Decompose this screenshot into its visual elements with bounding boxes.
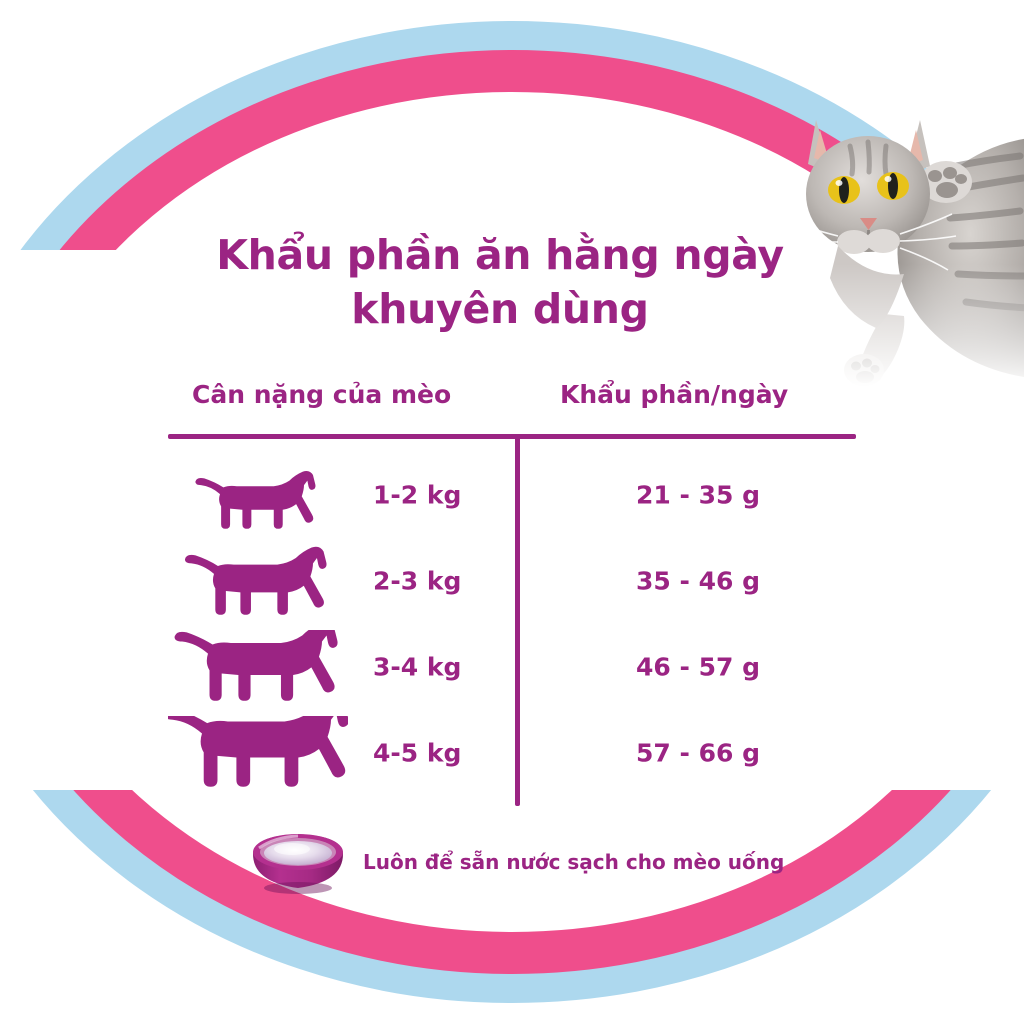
footer-note: Luôn để sẵn nước sạch cho mèo uống [245, 826, 865, 898]
column-header-portion: Khẩu phần/ngày [560, 380, 788, 409]
cat-silhouette-icon [168, 458, 348, 532]
row-weight-value: 2-3 kg [373, 567, 461, 596]
row-portion-value: 35 - 46 g [548, 567, 848, 596]
row-weight-value: 4-5 kg [373, 739, 461, 768]
row-portion-value: 21 - 35 g [548, 481, 848, 510]
row-weight-value: 3-4 kg [373, 653, 461, 682]
table-row: 1-2 kg 21 - 35 g [168, 452, 858, 538]
table-row: 3-4 kg 46 - 57 g [168, 624, 858, 710]
title-line-1: Khẩu phần ăn hằng ngày [150, 228, 850, 282]
water-bowl-icon [245, 828, 351, 896]
table-horizontal-rule [168, 434, 856, 439]
column-header-weight: Cân nặng của mèo [192, 380, 451, 409]
row-portion-value: 57 - 66 g [548, 739, 848, 768]
infographic-page: Khẩu phần ăn hằng ngày khuyên dùng Cân n… [0, 0, 1024, 1024]
cat-silhouette-icon [168, 716, 348, 790]
row-portion-value: 46 - 57 g [548, 653, 848, 682]
page-title: Khẩu phần ăn hằng ngày khuyên dùng [150, 228, 850, 336]
title-line-2: khuyên dùng [150, 282, 850, 336]
cat-silhouette-icon [168, 544, 348, 618]
footer-note-text: Luôn để sẵn nước sạch cho mèo uống [363, 850, 784, 874]
cat-silhouette-icon [168, 630, 348, 704]
table-row: 2-3 kg 35 - 46 g [168, 538, 858, 624]
table-row: 4-5 kg 57 - 66 g [168, 710, 858, 796]
row-weight-value: 1-2 kg [373, 481, 461, 510]
